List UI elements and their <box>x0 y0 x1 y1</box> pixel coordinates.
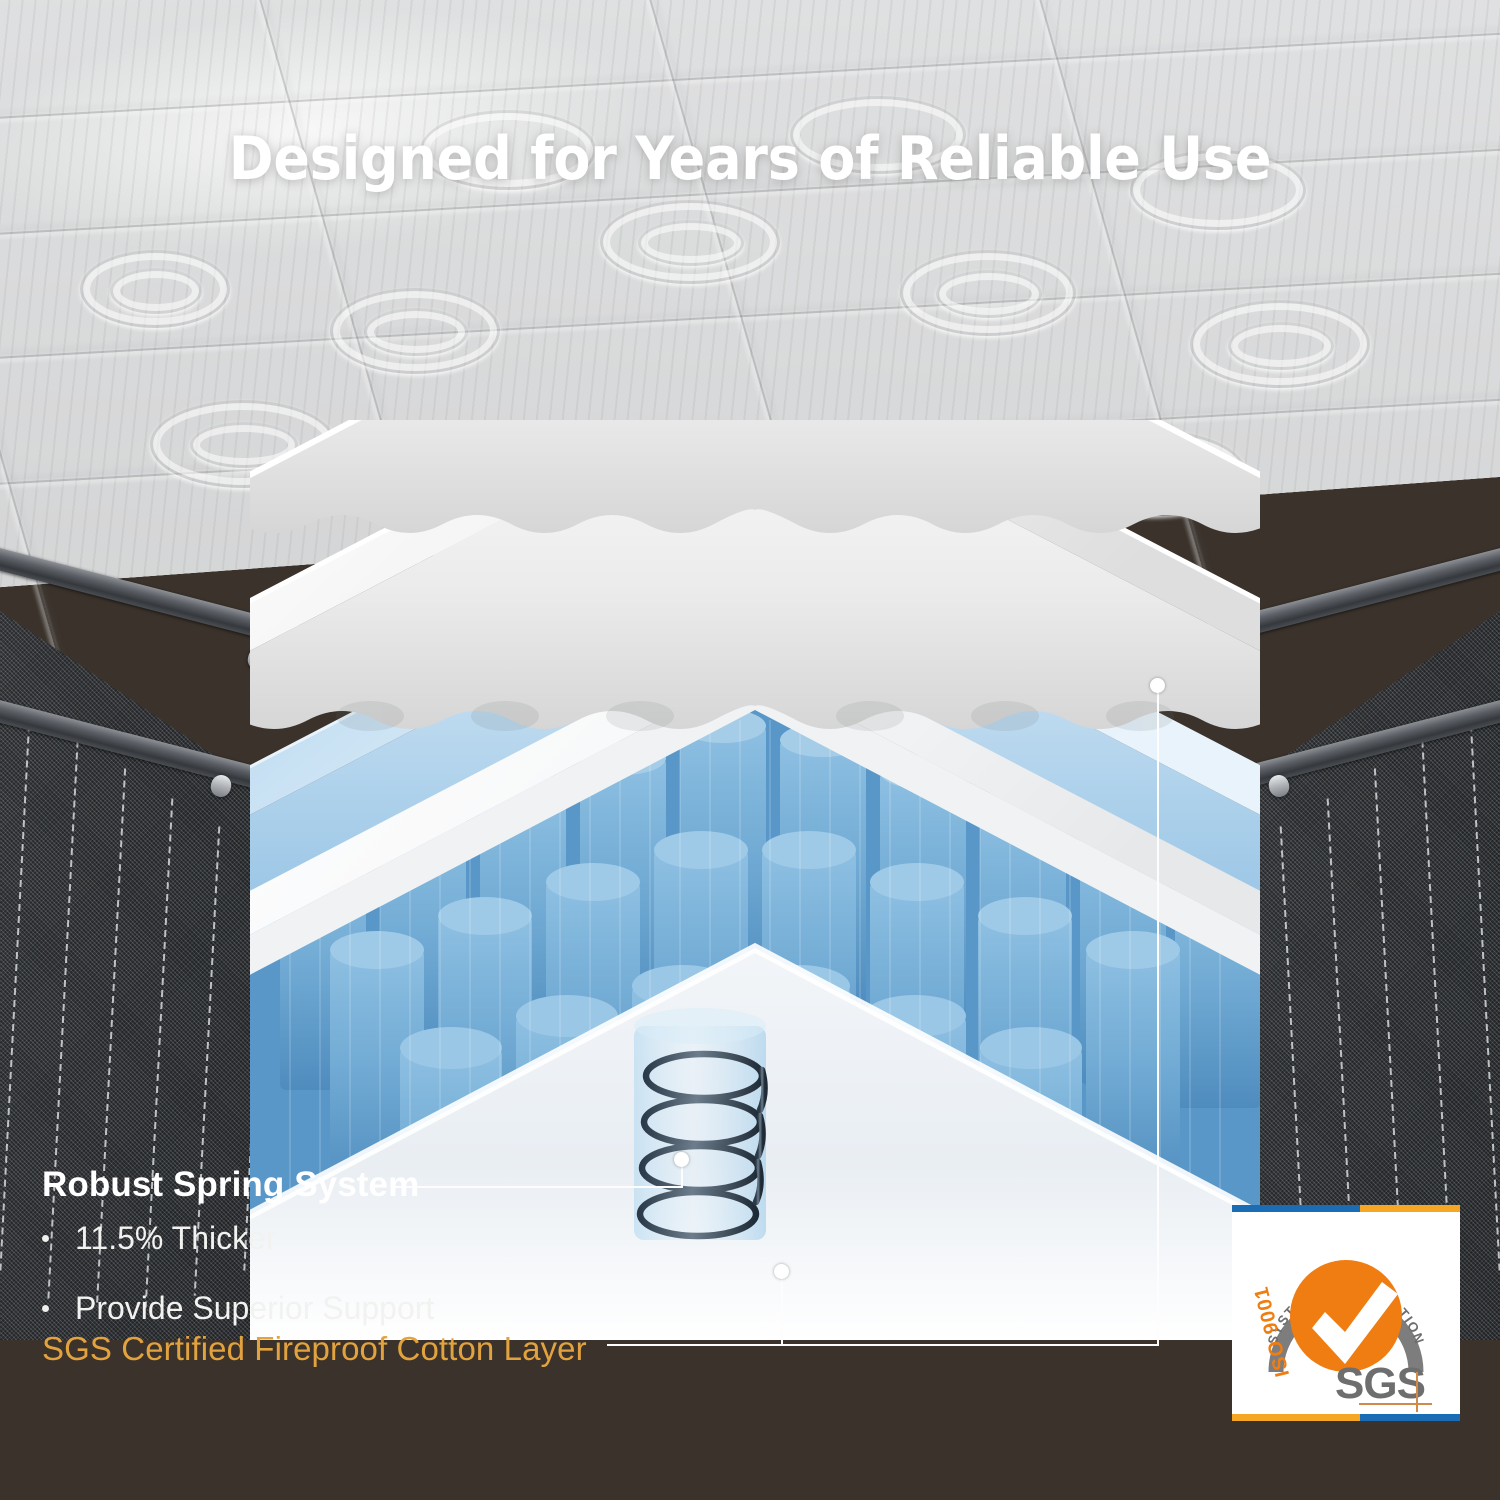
badge-bar-blue-segment <box>1232 1205 1360 1212</box>
badge-bottom-bar <box>1232 1414 1460 1421</box>
badge-bar-orange-segment <box>1360 1205 1460 1212</box>
leader-line-cotton-vertical <box>1157 690 1159 1346</box>
list-item: 11.5% Thicker <box>42 1222 434 1254</box>
product-feature-image: Designed for Years of Reliable Use Robus… <box>0 0 1500 1500</box>
leader-dot-cotton-upper <box>1150 678 1165 693</box>
quilt-swirl-motif <box>364 308 468 356</box>
page-title: Designed for Years of Reliable Use <box>0 124 1500 194</box>
badge-bar-orange-segment <box>1232 1414 1360 1421</box>
bullet-dot-icon <box>42 1235 49 1242</box>
quilt-swirl-motif <box>936 270 1042 318</box>
quilt-swirl-motif <box>638 220 744 266</box>
bullet-dot-icon <box>42 1305 49 1312</box>
badge-top-bar <box>1232 1205 1460 1212</box>
badge-bar-blue-segment <box>1360 1414 1460 1421</box>
list-item: Provide Superior Support <box>42 1292 434 1324</box>
detail-spring-coil <box>612 1000 802 1260</box>
bullet-label: Provide Superior Support <box>75 1292 434 1324</box>
badge-wordmark: SGS <box>1335 1359 1425 1408</box>
sgs-logo-graphic: SYSTEM CERTIFICATION ISO 9001 SGS <box>1232 1212 1460 1414</box>
leader-line-cotton-horizontal <box>607 1344 1159 1346</box>
sgs-certification-badge: SYSTEM CERTIFICATION ISO 9001 SGS <box>1232 1205 1460 1421</box>
quilt-swirl-motif <box>1228 322 1334 370</box>
leader-dot-cotton-lower <box>774 1264 789 1279</box>
quilt-swirl-motif <box>110 268 202 314</box>
leader-line-spring-horizontal <box>392 1186 682 1188</box>
leader-line-cotton-branch <box>781 1272 783 1346</box>
leader-dot-spring <box>674 1152 689 1167</box>
callout-label-cotton-layer: SGS Certified Fireproof Cotton Layer <box>42 1330 587 1368</box>
bullet-label: 11.5% Thicker <box>75 1222 277 1254</box>
callout-title-spring-system: Robust Spring System <box>42 1165 419 1205</box>
